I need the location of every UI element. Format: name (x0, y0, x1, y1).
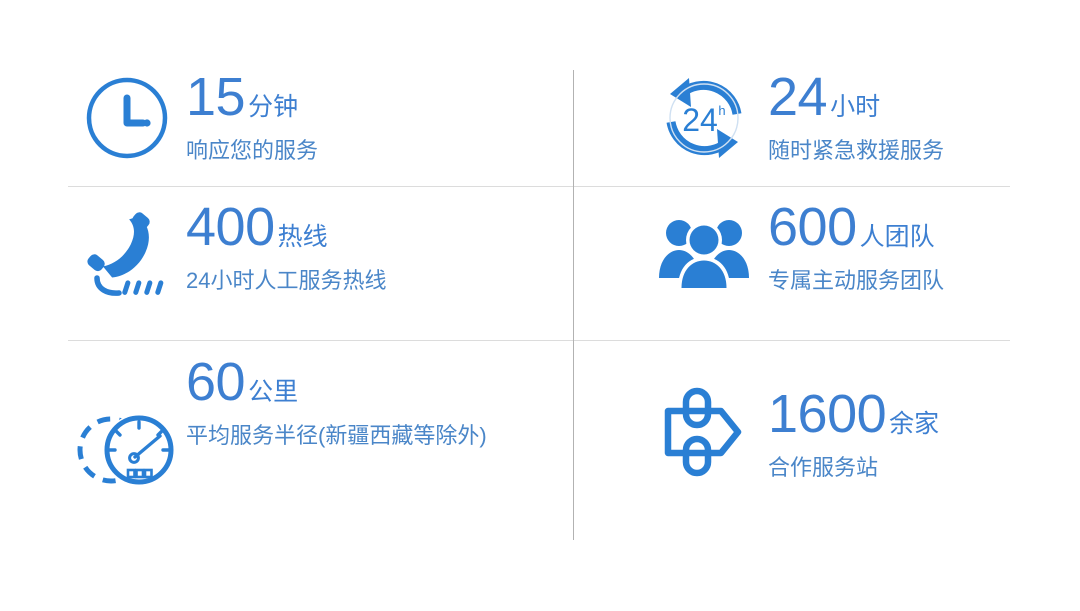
stat-text-service-radius: 60 公里 平均服务半径(新疆西藏等除外) (186, 355, 573, 452)
stat-unit: 公里 (248, 380, 298, 405)
stat-card-partner-stations: 1600 余家 合作服务站 (640, 355, 1040, 540)
service-stats-infographic: 15 分钟 响应您的服务 24 h 24 (0, 0, 1080, 611)
stat-description: 合作服务站 (768, 452, 1040, 484)
stat-card-emergency-rescue: 24 h 24 小时 随时紧急救援服务 (640, 70, 1040, 186)
24h-cycle-icon: 24 h (640, 70, 768, 162)
stat-card-service-team: 600 人团队 专属主动服务团队 (640, 200, 1040, 340)
clock-icon (68, 70, 186, 160)
stat-text-response-time: 15 分钟 响应您的服务 (186, 70, 573, 167)
stat-number: 1600 (768, 387, 886, 441)
divider-horizontal-1 (68, 186, 1010, 187)
telephone-icon (68, 200, 186, 298)
stat-unit: 热线 (278, 225, 328, 250)
stat-headline: 1600 余家 (768, 387, 1040, 441)
stat-headline: 600 人团队 (768, 200, 1040, 254)
divider-horizontal-2 (68, 340, 1010, 341)
stat-text-emergency-rescue: 24 小时 随时紧急救援服务 (768, 70, 1040, 167)
people-group-icon (640, 200, 768, 288)
stat-card-hotline: 400 热线 24小时人工服务热线 (68, 200, 573, 340)
stat-unit: 余家 (889, 412, 939, 437)
stat-card-service-radius: 60 公里 平均服务半径(新疆西藏等除外) (68, 355, 573, 540)
stat-headline: 400 热线 (186, 200, 573, 254)
stat-unit: 人团队 (860, 225, 935, 250)
stat-number: 24 (768, 70, 827, 124)
stat-unit: 小时 (830, 95, 880, 120)
stat-card-response-time: 15 分钟 响应您的服务 (68, 70, 573, 186)
divider-vertical (573, 70, 574, 540)
stat-description: 响应您的服务 (186, 135, 538, 167)
icon-h-label: h (718, 103, 725, 118)
stat-description: 专属主动服务团队 (768, 265, 1040, 297)
stat-headline: 60 公里 (186, 355, 573, 409)
signpost-icon (640, 355, 768, 477)
stat-headline: 24 小时 (768, 70, 1040, 124)
stat-number: 400 (186, 200, 275, 254)
stat-description: 随时紧急救援服务 (768, 135, 1040, 167)
stat-text-partner-stations: 1600 余家 合作服务站 (768, 355, 1040, 484)
stat-text-hotline: 400 热线 24小时人工服务热线 (186, 200, 573, 297)
stat-text-service-team: 600 人团队 专属主动服务团队 (768, 200, 1040, 297)
stat-description: 平均服务半径(新疆西藏等除外) (186, 420, 526, 452)
speedometer-icon (68, 355, 186, 493)
stat-number: 15 (186, 70, 245, 124)
stat-unit: 分钟 (248, 95, 298, 120)
stat-number: 60 (186, 355, 245, 409)
stat-description: 24小时人工服务热线 (186, 265, 538, 297)
icon-24-label: 24 (682, 102, 718, 138)
stat-headline: 15 分钟 (186, 70, 573, 124)
stat-number: 600 (768, 200, 857, 254)
